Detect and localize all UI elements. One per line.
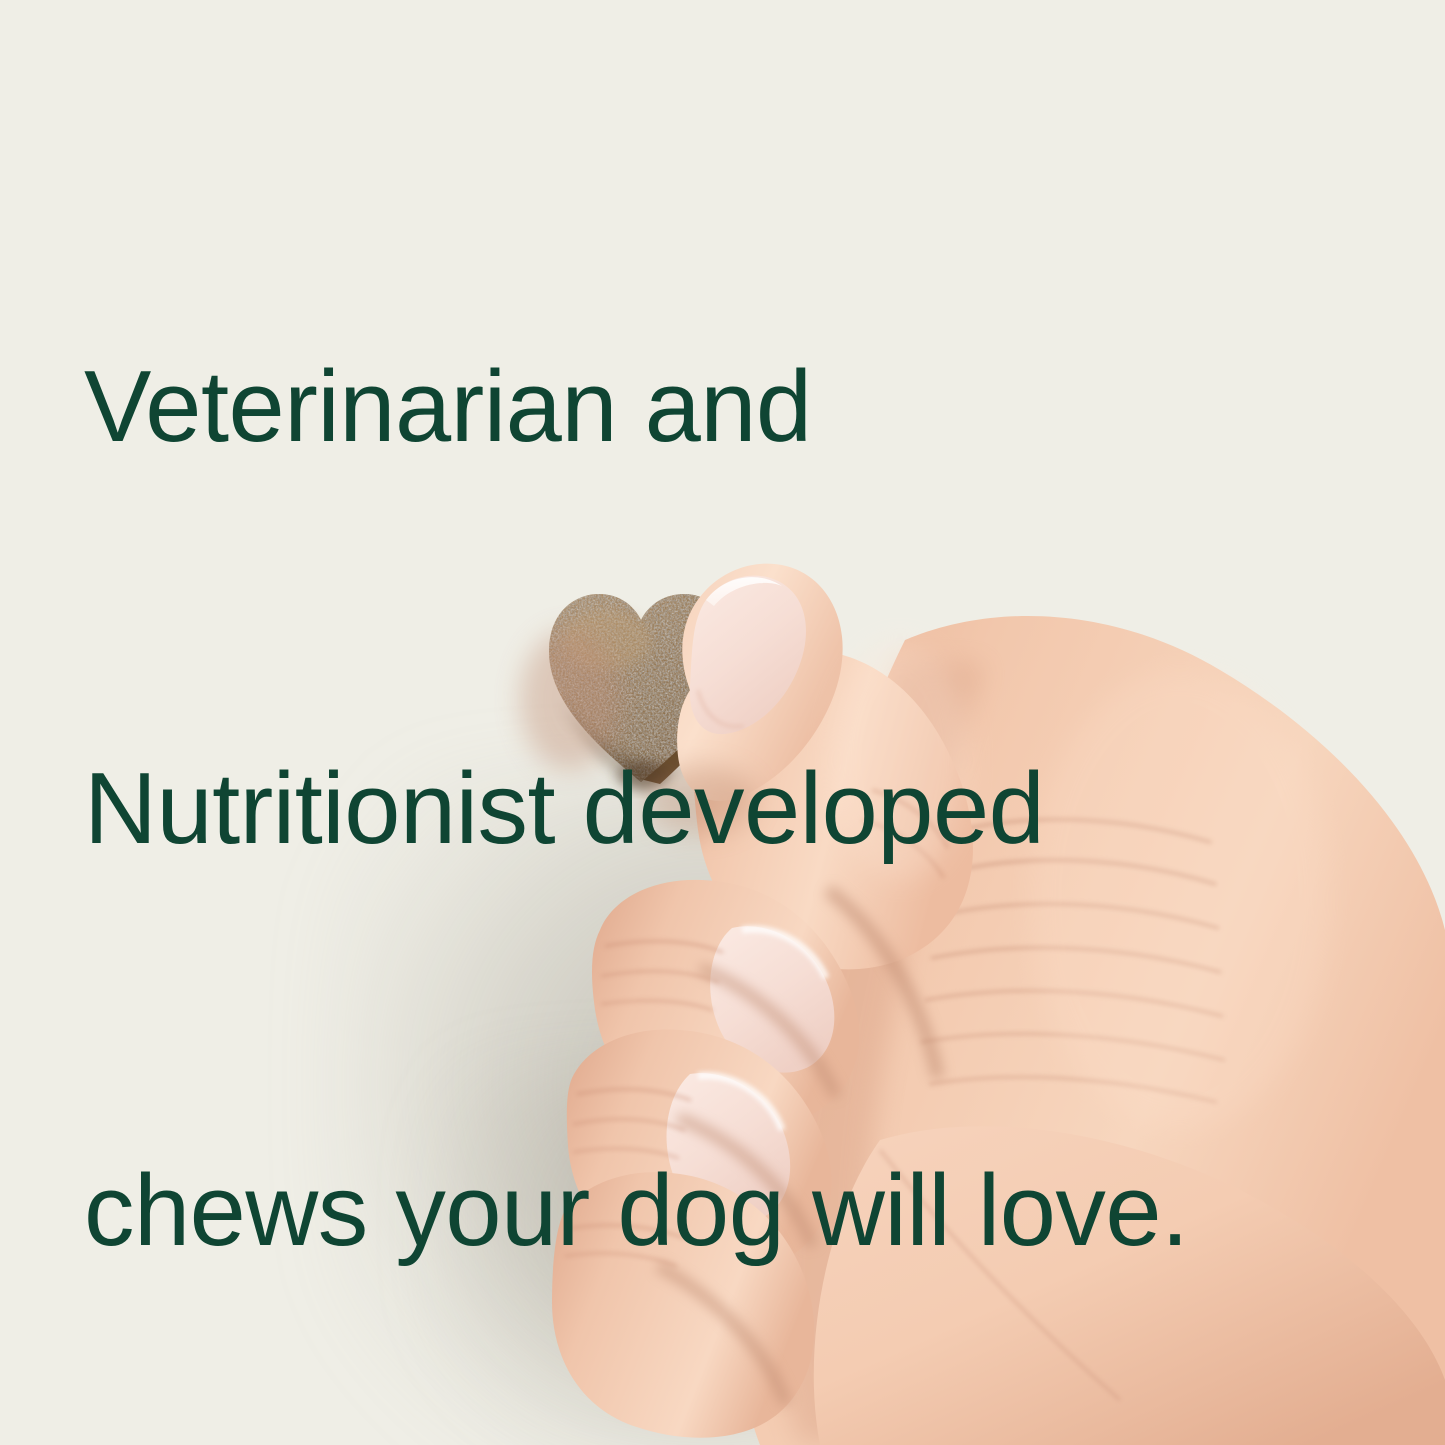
headline-line-2: Nutritionist developed bbox=[84, 742, 1314, 876]
headline-line-3: chews your dog will love. bbox=[84, 1144, 1314, 1278]
headline-line-1: Veterinarian and bbox=[84, 340, 1314, 474]
page-headline: Veterinarian and Nutritionist developed … bbox=[84, 72, 1314, 1445]
marketing-image-canvas: Veterinarian and Nutritionist developed … bbox=[0, 0, 1445, 1445]
